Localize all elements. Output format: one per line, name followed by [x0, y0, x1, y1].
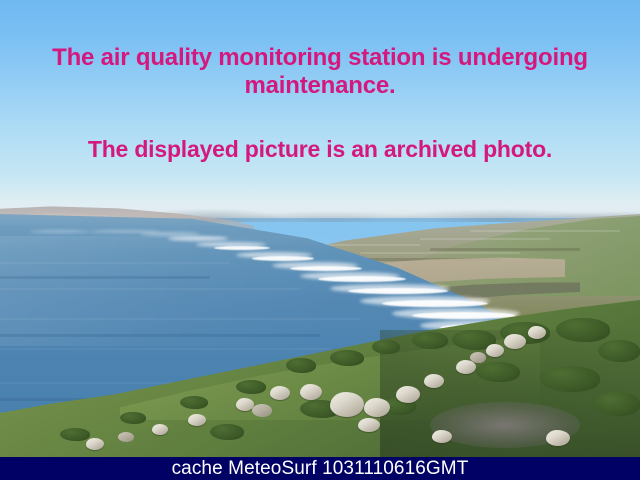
surf-line — [168, 236, 228, 241]
status-bar-text: cache MeteoSurf 1031110616GMT — [172, 458, 469, 480]
webcam-photo — [0, 0, 640, 457]
webcam-viewport: The air quality monitoring station is un… — [0, 0, 640, 480]
status-bar: cache MeteoSurf 1031110616GMT — [0, 457, 640, 480]
scrub-bush — [286, 358, 316, 373]
boulder — [330, 392, 364, 417]
